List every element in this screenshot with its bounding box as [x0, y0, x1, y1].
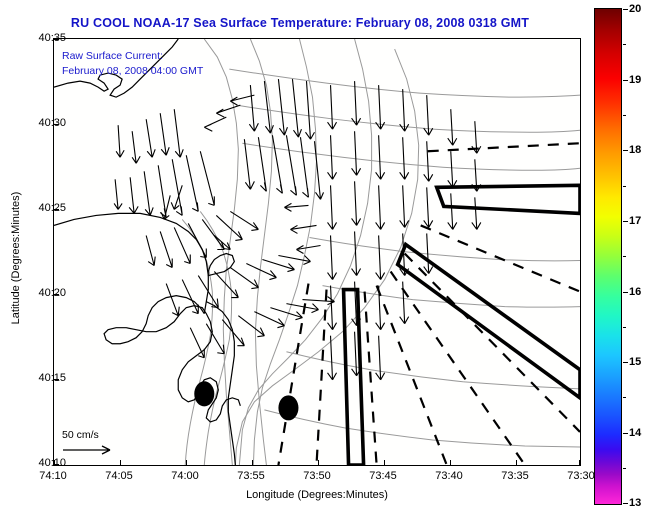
colorbar-minor-tick	[623, 44, 626, 45]
x-tick-in	[252, 460, 253, 465]
surface-current-vectors	[114, 79, 481, 380]
figure-title: RU COOL NOAA-17 Sea Surface Temperature:…	[0, 16, 600, 30]
colorbar-gradient	[595, 9, 621, 504]
colorbar-minor-tick	[623, 397, 626, 398]
x-tick-in	[384, 460, 385, 465]
y-tick-label: 40:30	[38, 117, 66, 129]
x-tick-label: 74:10	[39, 470, 67, 482]
y-tick-label: 40:10	[38, 457, 66, 469]
x-tick-label: 74:00	[171, 470, 199, 482]
colorbar-tick-label: 19	[629, 74, 641, 86]
colorbar-tick-label: 20	[629, 3, 641, 15]
x-tick-label: 73:45	[369, 470, 397, 482]
y-axis-title: Latitude (Degrees:Minutes)	[10, 158, 22, 358]
colorbar-tick	[623, 503, 628, 504]
y-tick-label: 40:20	[38, 287, 66, 299]
colorbar-tick-label: 17	[629, 215, 641, 227]
colorbar-tick	[623, 433, 628, 434]
x-tick-in	[516, 460, 517, 465]
station-marker	[194, 381, 214, 406]
colorbar-minor-tick	[623, 256, 626, 257]
colorbar	[594, 8, 622, 505]
colorbar-tick	[623, 80, 628, 81]
y-tick-label: 40:25	[38, 202, 66, 214]
colorbar-tick	[623, 292, 628, 293]
colorbar-tick	[623, 150, 628, 151]
colorbar-tick-label: 14	[629, 427, 641, 439]
colorbar-minor-tick	[623, 115, 626, 116]
sst-map-figure: RU COOL NOAA-17 Sea Surface Temperature:…	[0, 0, 651, 518]
x-tick-in	[318, 460, 319, 465]
x-axis-title: Longitude (Degrees:Minutes)	[53, 489, 581, 501]
y-tick-label: 40:15	[38, 372, 66, 384]
x-tick-label: 73:50	[303, 470, 331, 482]
colorbar-tick	[623, 221, 628, 222]
colorbar-tick-label: 16	[629, 286, 641, 298]
colorbar-tick-label: 13	[629, 497, 641, 509]
colorbar-tick-label: 15	[629, 356, 641, 368]
colorbar-tick	[623, 362, 628, 363]
x-tick-label: 73:55	[237, 470, 265, 482]
x-tick-in	[579, 460, 580, 465]
lane-boundaries	[278, 143, 580, 465]
x-tick-label: 74:05	[105, 470, 133, 482]
x-tick-in	[120, 460, 121, 465]
x-tick-label: 73:35	[501, 470, 529, 482]
map-plot-area: Raw Surface Current: February 08, 2008 0…	[53, 38, 581, 466]
map-canvas	[54, 39, 580, 465]
y-tick-label: 40:35	[38, 32, 66, 44]
x-tick-label: 73:30	[567, 470, 595, 482]
colorbar-minor-tick	[623, 468, 626, 469]
x-tick-label: 73:40	[435, 470, 463, 482]
x-tick-in	[186, 460, 187, 465]
colorbar-tick-label: 18	[629, 144, 641, 156]
colorbar-minor-tick	[623, 327, 626, 328]
colorbar-tick	[623, 9, 628, 10]
x-tick-in	[450, 460, 451, 465]
colorbar-minor-tick	[623, 186, 626, 187]
bathymetry-contours	[182, 39, 580, 465]
